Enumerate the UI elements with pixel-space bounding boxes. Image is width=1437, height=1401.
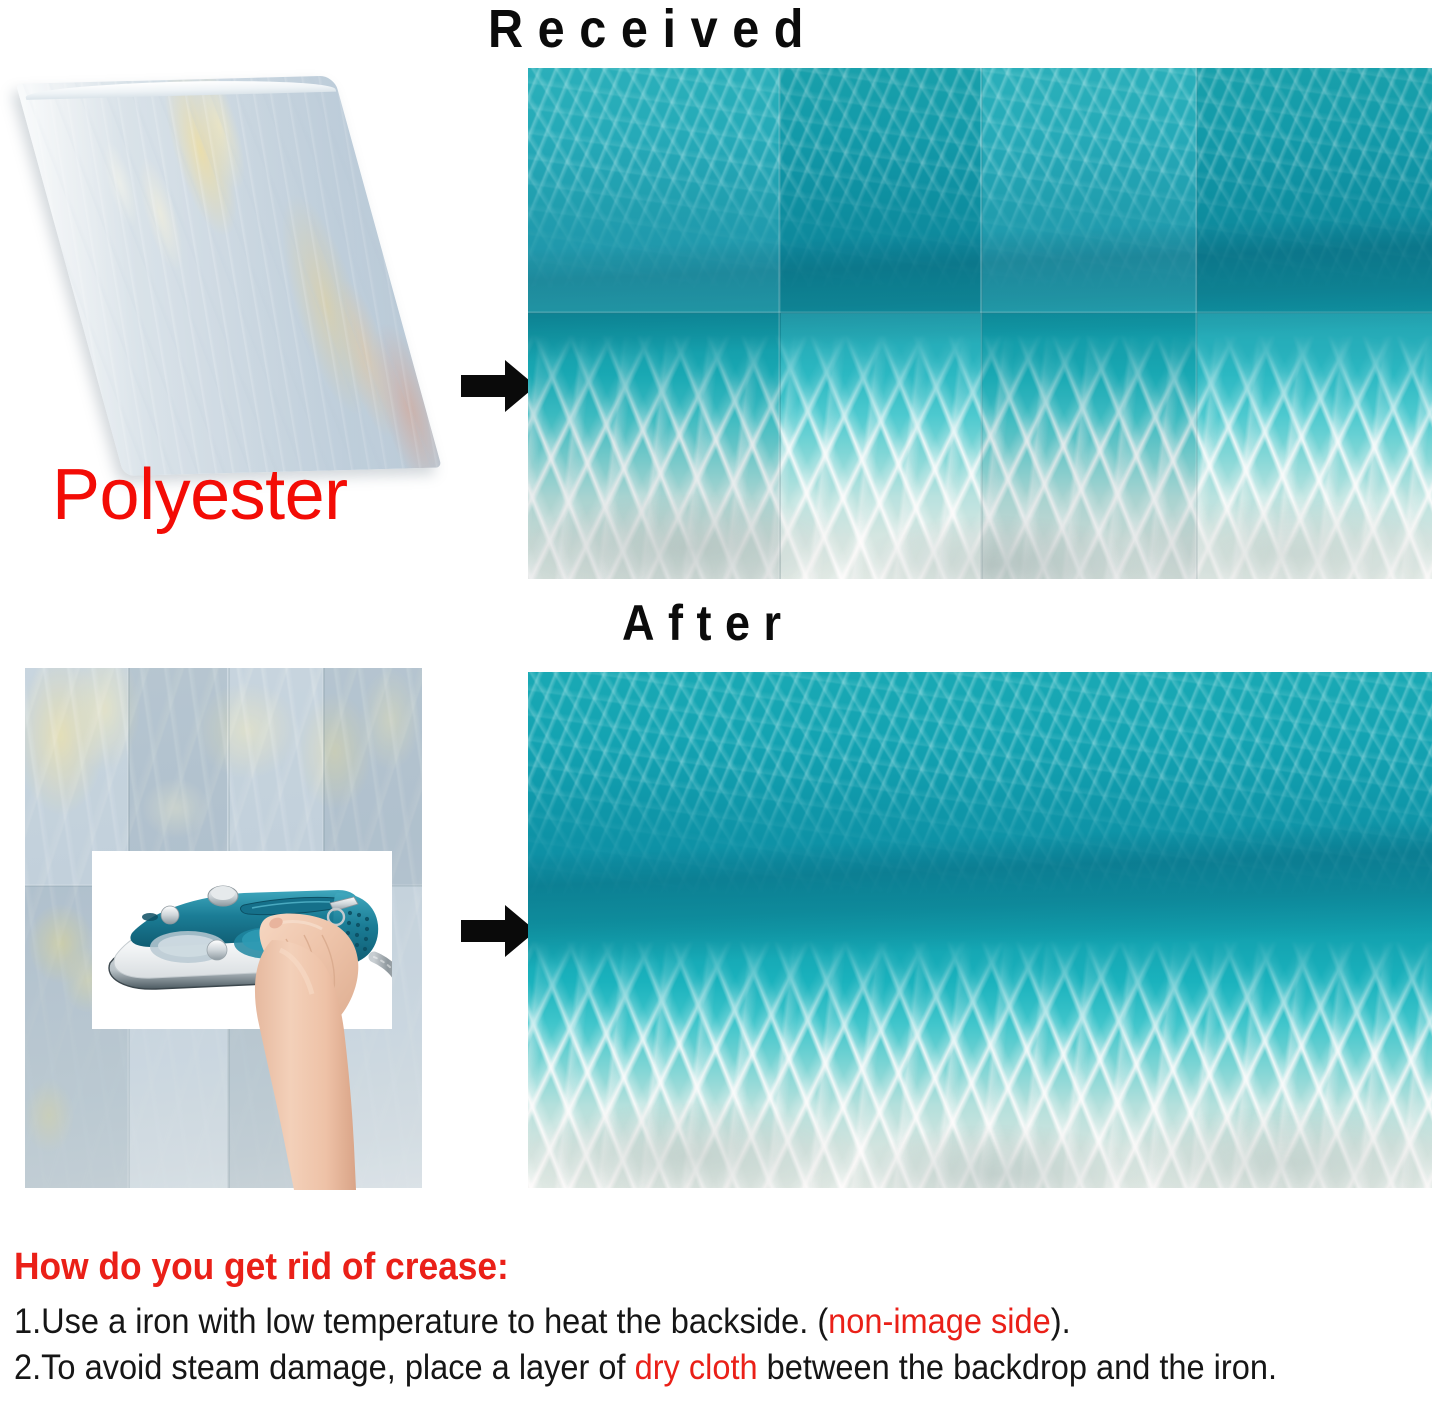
- after-section-label: After: [622, 598, 795, 648]
- right-arrow-icon: [461, 358, 537, 414]
- step-2-highlight: dry cloth: [635, 1348, 758, 1387]
- polyester-swatch: [8, 78, 428, 488]
- ocean-surface-ripples: [528, 68, 1432, 354]
- ocean-surface-ripples: [528, 672, 1432, 961]
- received-section-label: Received: [488, 2, 818, 56]
- step-2-prefix: 2.To avoid steam damage, place a layer o…: [14, 1348, 635, 1387]
- instructions-heading: How do you get rid of crease:: [14, 1248, 1335, 1288]
- ocean-sand-bed: [528, 1013, 1432, 1188]
- ocean-sand-bed: [528, 405, 1432, 579]
- right-arrow-icon: [461, 903, 537, 959]
- instructions-block: How do you get rid of crease: 1.Use a ir…: [14, 1248, 1434, 1392]
- received-backdrop-image: [528, 68, 1432, 579]
- instruction-step-1: 1.Use a iron with low temperature to hea…: [14, 1301, 1335, 1344]
- step-1-highlight: non-image side: [828, 1302, 1051, 1341]
- swatch-sheet: [16, 76, 442, 476]
- step-1-prefix: 1.Use a iron with low temperature to hea…: [14, 1302, 828, 1341]
- forearm: [228, 940, 403, 1190]
- infographic-canvas: Received Polyester: [0, 0, 1437, 1401]
- after-backdrop-image: [528, 672, 1432, 1188]
- step-2-suffix: between the backdrop and the iron.: [758, 1348, 1277, 1387]
- material-label: Polyester: [52, 459, 348, 531]
- forearm-icon: [228, 940, 403, 1190]
- step-1-suffix: ).: [1051, 1302, 1071, 1341]
- instruction-step-2: 2.To avoid steam damage, place a layer o…: [14, 1347, 1335, 1390]
- swatch-sheen: [16, 76, 442, 476]
